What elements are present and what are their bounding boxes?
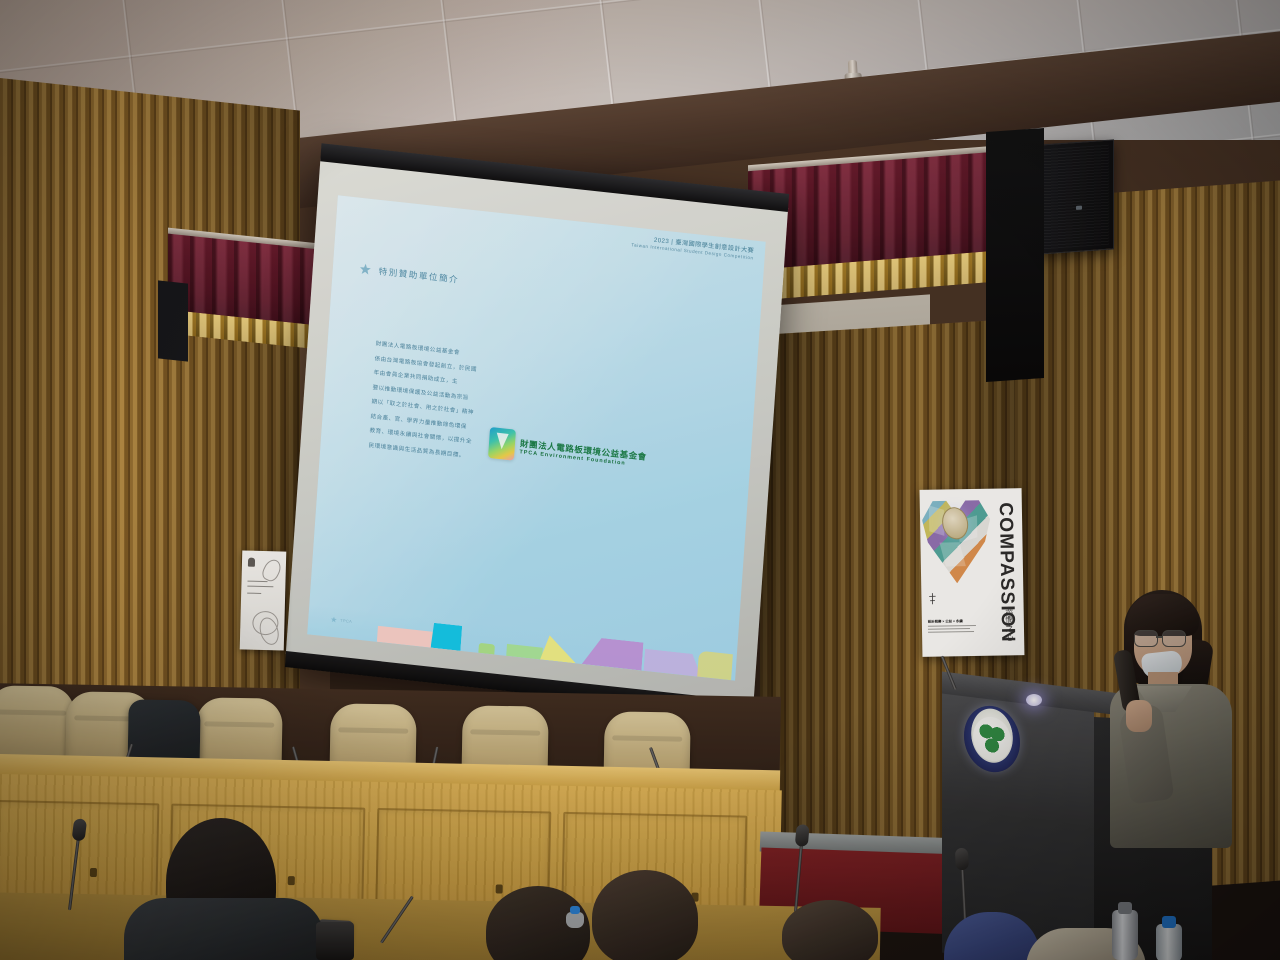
projection-screen: 2023 | 臺灣國際學生創意設計大賽 Taiwan International… (285, 143, 789, 718)
projection-screen-border: 2023 | 臺灣國際學生創意設計大賽 Taiwan International… (286, 157, 788, 705)
audience-member-shoulders (124, 898, 324, 960)
water-bottle (566, 906, 584, 928)
poster-avatar-icon (248, 558, 255, 567)
tpca-logo-icon (488, 427, 516, 461)
loudspeaker (1038, 139, 1114, 254)
wall-dark-block-left (158, 280, 188, 361)
stage-valance-curtain-left (168, 234, 328, 351)
dark-cup (316, 922, 354, 960)
poster-caption-heading: 設計競賽 × 公益 × 永續 (928, 618, 980, 624)
wall-poster-compassion: COMPASSION 悲憫之心 設計競賽 × 公益 × 永續 (920, 488, 1025, 657)
slide-decor-shape (506, 644, 543, 660)
slide-decor-shape (478, 643, 495, 655)
presentation-slide: 2023 | 臺灣國際學生創意設計大賽 Taiwan International… (307, 195, 765, 680)
poster-caption: 設計競賽 × 公益 × 永續 (928, 618, 980, 635)
podium-lamp-icon (1026, 694, 1042, 706)
poster-subtitle-cn: 悲憫之心 (1004, 606, 1016, 642)
poster-mark-icon (927, 593, 937, 605)
slide-decor-shape (697, 651, 733, 681)
star-icon (358, 262, 372, 276)
steel-thermos (1112, 902, 1138, 960)
slide-body-text: 財團法人電路板環境公益基金會 係由台灣電路板協會發起創立，於民國 年由會員企業共… (368, 340, 484, 468)
presenter (1096, 588, 1246, 848)
slide-decor-shape (431, 623, 463, 651)
audience-member-head (592, 870, 698, 960)
glasses-icon (1132, 630, 1190, 645)
wall-dark-recess (986, 128, 1044, 382)
wall-poster-left (240, 550, 287, 650)
lecture-hall-photo: 2023 | 臺灣國際學生創意設計大賽 Taiwan International… (0, 0, 1280, 960)
water-bottle (1156, 916, 1182, 960)
presenter-hand (1126, 700, 1152, 732)
